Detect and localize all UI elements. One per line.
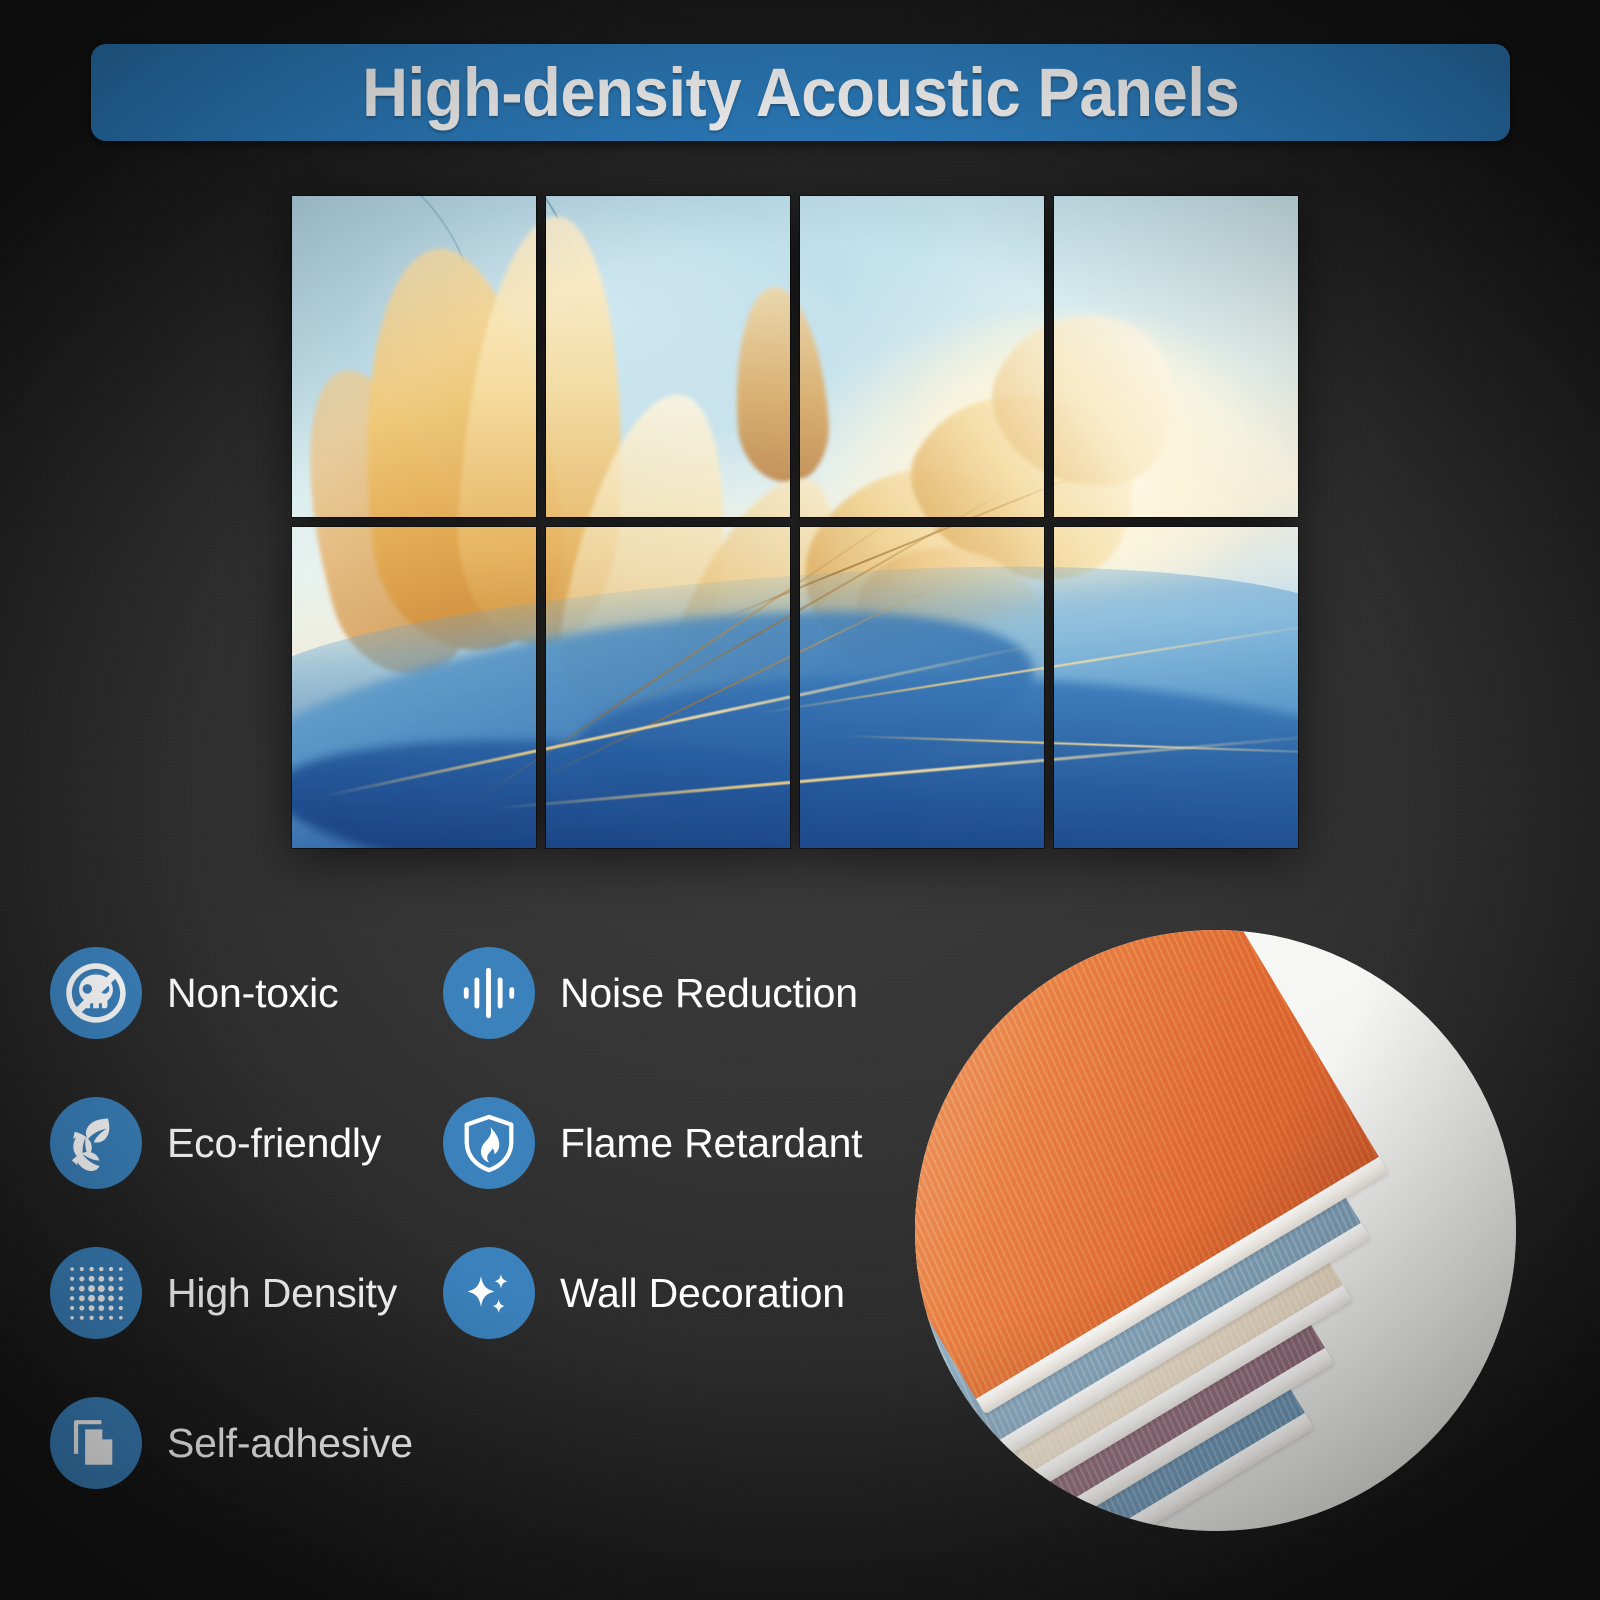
art-panel-3[interactable] xyxy=(800,196,1044,517)
feature-label: Wall Decoration xyxy=(560,1270,845,1317)
product-infographic: High-density Acoustic Panels xyxy=(0,0,1600,1600)
flame-shield-icon xyxy=(443,1097,535,1189)
stacked-sheets-icon xyxy=(50,1397,142,1489)
feature-label: Non-toxic xyxy=(167,970,338,1017)
leaves-recycle-icon xyxy=(50,1097,142,1189)
feature-label: Eco-friendly xyxy=(167,1120,381,1167)
artwork-panel-grid xyxy=(292,196,1298,848)
feature-eco-friendly[interactable]: Eco-friendly xyxy=(50,1097,381,1189)
feature-non-toxic[interactable]: Non-toxic xyxy=(50,947,338,1039)
feature-label: Noise Reduction xyxy=(560,970,858,1017)
page-title: High-density Acoustic Panels xyxy=(362,58,1239,127)
sparkle-icon xyxy=(443,1247,535,1339)
no-skull-icon xyxy=(50,947,142,1039)
title-banner: High-density Acoustic Panels xyxy=(91,44,1510,141)
art-panel-8[interactable] xyxy=(1054,527,1298,848)
art-panel-2[interactable] xyxy=(546,196,790,517)
art-panel-4[interactable] xyxy=(1054,196,1298,517)
feature-label: High Density xyxy=(167,1270,397,1317)
art-panel-1[interactable] xyxy=(292,196,536,517)
sound-wave-icon xyxy=(443,947,535,1039)
feature-noise-reduction[interactable]: Noise Reduction xyxy=(443,947,858,1039)
feature-label: Self-adhesive xyxy=(167,1420,413,1467)
art-panel-7[interactable] xyxy=(800,527,1044,848)
art-panel-6[interactable] xyxy=(546,527,790,848)
feature-flame-retardant[interactable]: Flame Retardant xyxy=(443,1097,862,1189)
art-panel-5[interactable] xyxy=(292,527,536,848)
dot-grid-icon xyxy=(50,1247,142,1339)
stacked-acoustic-panels-photo xyxy=(915,930,1516,1531)
feature-self-adhesive[interactable]: Self-adhesive xyxy=(50,1397,413,1489)
feature-label: Flame Retardant xyxy=(560,1120,862,1167)
feature-wall-decoration[interactable]: Wall Decoration xyxy=(443,1247,845,1339)
feature-high-density[interactable]: High Density xyxy=(50,1247,397,1339)
